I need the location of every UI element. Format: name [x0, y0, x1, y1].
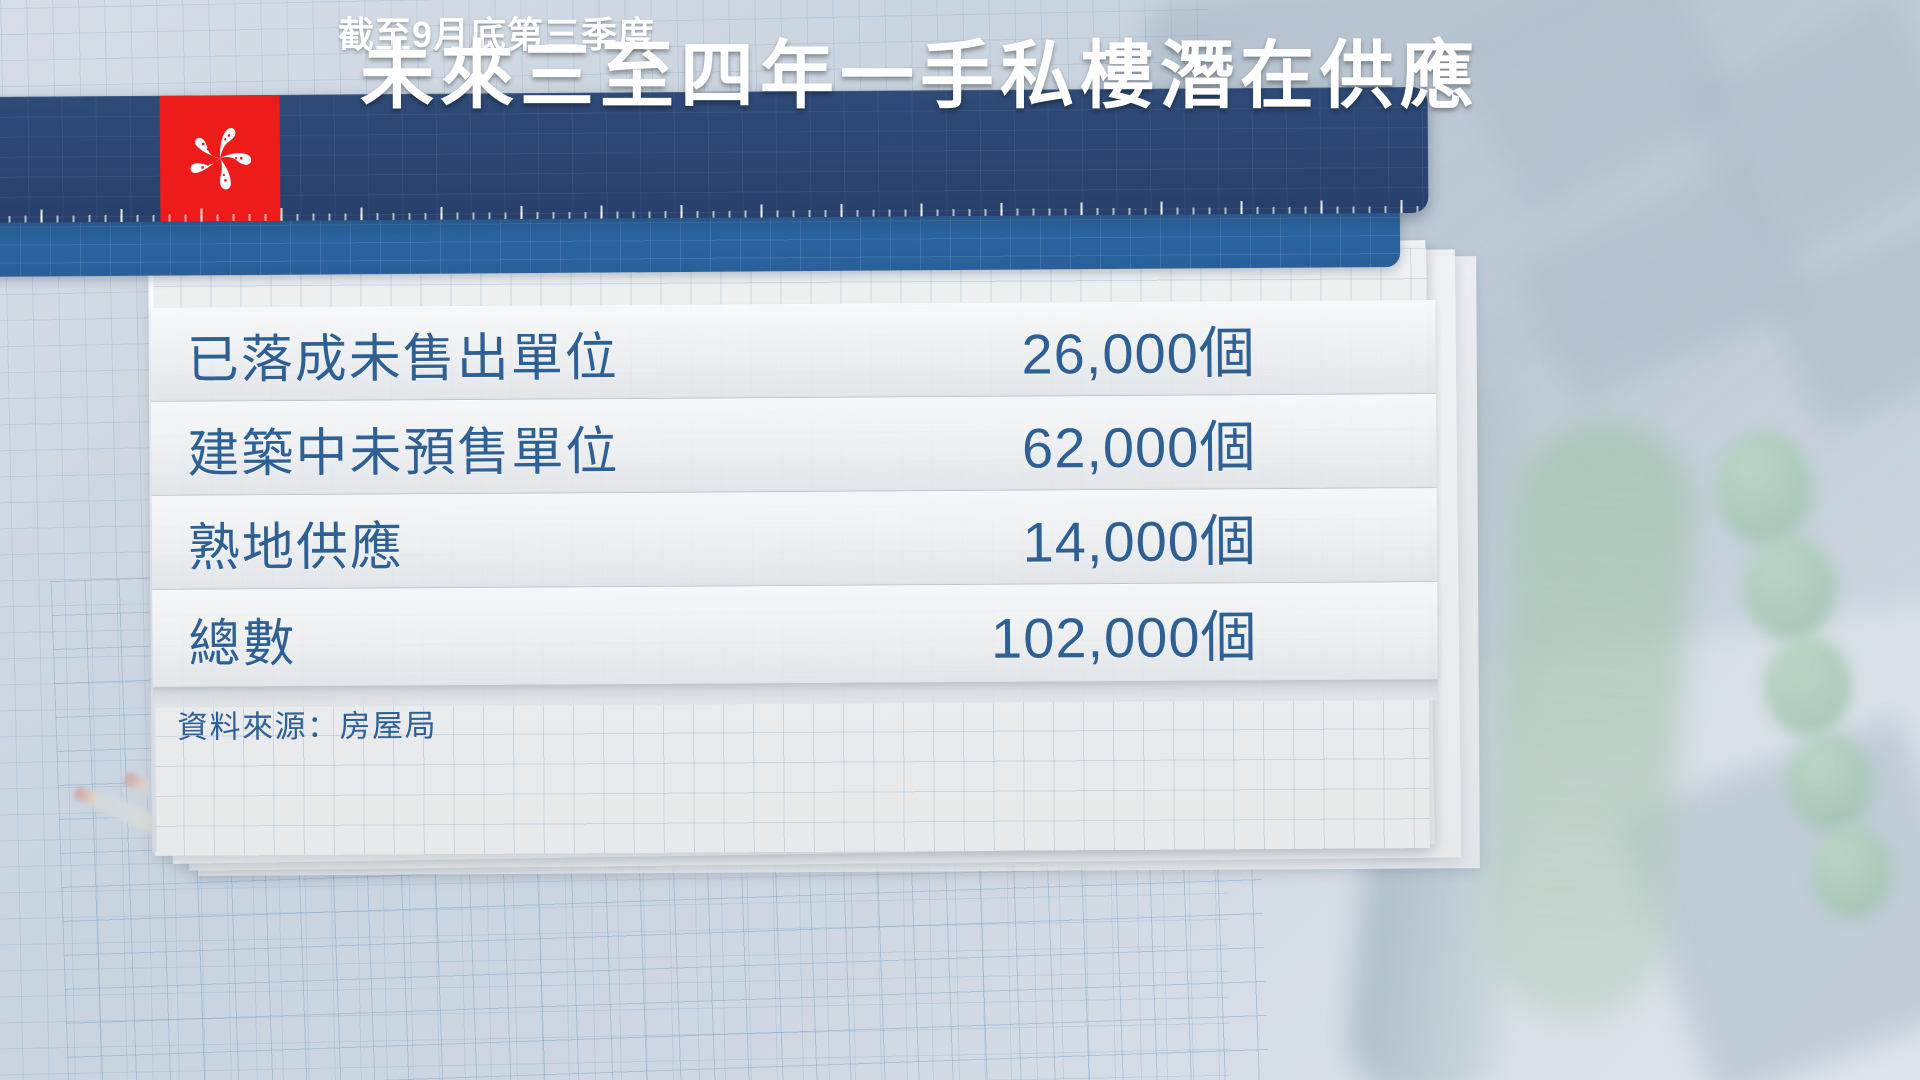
background-tree-icon	[1788, 734, 1872, 830]
table-row-value: 102,000個	[991, 592, 1258, 675]
source-attribution: 資料來源：房屋局	[177, 700, 437, 747]
background-building-block-d	[1768, 216, 1920, 434]
table-row-label: 熟地供應	[188, 504, 404, 580]
broadcast-graphic: 已落成未售出單位 26,000個 建築中未預售單位 62,000個 熟地供應 1…	[0, 0, 1920, 1080]
background-building-block-b	[1691, 0, 1920, 263]
background-park-shape	[1479, 414, 1700, 1025]
table-row-value: 62,000個	[1022, 402, 1257, 484]
table-row: 熟地供應 14,000個	[152, 488, 1438, 589]
background-tree-icon	[1812, 826, 1892, 918]
page-title: 未來三至四年一手私樓潛在供應	[360, 16, 1480, 123]
table-row-value: 26,000個	[1021, 308, 1256, 390]
table-row-label: 總數	[188, 601, 296, 677]
hong-kong-flag-icon	[160, 95, 281, 222]
background-tree-icon	[1716, 432, 1812, 544]
table-row-label: 建築中未預售單位	[187, 409, 619, 487]
supply-data-table: 已落成未售出單位 26,000個 建築中未預售單位 62,000個 熟地供應 1…	[150, 254, 1439, 862]
table-row-total: 總數 102,000個	[152, 582, 1438, 687]
table-row: 已落成未售出單位 26,000個	[150, 300, 1436, 401]
table-row-label: 已落成未售出單位	[187, 315, 619, 393]
background-tree-icon	[1764, 636, 1852, 736]
background-tree-icon	[1744, 536, 1836, 640]
table-row-value: 14,000個	[1022, 496, 1257, 578]
table-row: 建築中未預售單位 62,000個	[151, 394, 1437, 495]
background-building-block-a	[1449, 0, 1741, 213]
background-building-block-c	[1521, 164, 1820, 407]
